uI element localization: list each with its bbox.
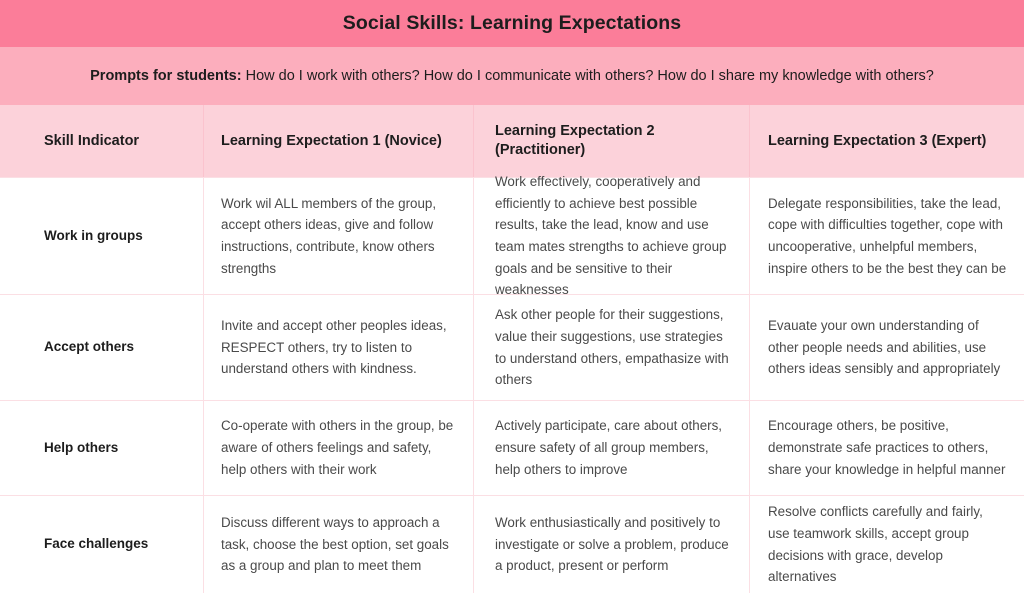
expectation-3-cell: Resolve conflicts carefully and fairly, … [749,496,1024,593]
prompt-label: Prompts for students: [90,68,241,84]
expectation-3-cell: Encourage others, be positive, demonstra… [749,401,1024,495]
skill-indicator-cell: Work in groups [0,178,203,294]
prompt-text: Prompts for students: How do I work with… [90,68,934,84]
expectation-1-cell: Discuss different ways to approach a tas… [203,496,473,593]
skill-indicator-cell: Accept others [0,295,203,400]
expectation-2-cell: Work effectively, cooperatively and effi… [473,178,749,294]
expectation-1-cell: Invite and accept other peoples ideas, R… [203,295,473,400]
column-header-skill-indicator: Skill Indicator [0,105,203,177]
prompt-questions: How do I work with others? How do I comm… [242,68,934,84]
skill-indicator-cell: Face challenges [0,496,203,593]
expectation-2-cell: Ask other people for their suggestions, … [473,295,749,400]
table-row: Work in groups Work wil ALL members of t… [0,177,1024,294]
skill-indicator-cell: Help others [0,401,203,495]
expectation-1-cell: Co-operate with others in the group, be … [203,401,473,495]
table-row: Help others Co-operate with others in th… [0,400,1024,495]
expectations-table: Skill Indicator Learning Expectation 1 (… [0,105,1024,593]
table-header-row: Skill Indicator Learning Expectation 1 (… [0,105,1024,177]
column-header-expectation-2: Learning Expectation 2 (Practitioner) [473,105,749,177]
column-header-expectation-3: Learning Expectation 3 (Expert) [749,105,1024,177]
table-row: Accept others Invite and accept other pe… [0,294,1024,400]
page-title: Social Skills: Learning Expectations [343,12,681,35]
prompt-band: Prompts for students: How do I work with… [0,47,1024,105]
table-row: Face challenges Discuss different ways t… [0,495,1024,593]
expectation-2-cell: Actively participate, care about others,… [473,401,749,495]
expectation-3-cell: Delegate responsibilities, take the lead… [749,178,1024,294]
title-band: Social Skills: Learning Expectations [0,0,1024,47]
expectation-1-cell: Work wil ALL members of the group, accep… [203,178,473,294]
column-header-expectation-1: Learning Expectation 1 (Novice) [203,105,473,177]
learning-expectations-sheet: Social Skills: Learning Expectations Pro… [0,0,1024,593]
expectation-3-cell: Evauate your own understanding of other … [749,295,1024,400]
expectation-2-cell: Work enthusiastically and positively to … [473,496,749,593]
